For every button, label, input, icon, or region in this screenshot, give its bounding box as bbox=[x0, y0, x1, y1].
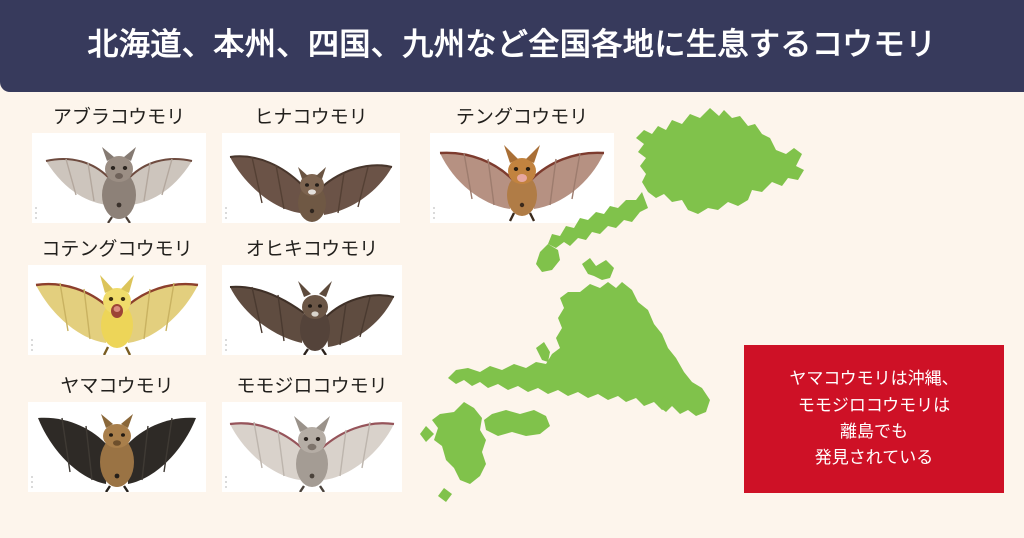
bat-illustration-icon bbox=[28, 265, 206, 355]
bat-label: オヒキコウモリ bbox=[222, 240, 402, 259]
bat-photo bbox=[222, 133, 400, 223]
bat-illustration-icon bbox=[32, 133, 206, 223]
photo-corner-dots bbox=[31, 476, 34, 488]
photo-corner-dots bbox=[225, 207, 228, 219]
infographic-root: 北海道、本州、四国、九州など全国各地に生息するコウモリ アブラコウモリ bbox=[0, 0, 1024, 538]
bat-card-yamakoumori: ヤマコウモリ bbox=[28, 377, 206, 492]
note-line-1: ヤマコウモリは沖縄、 bbox=[789, 366, 958, 392]
bat-label: コテングコウモリ bbox=[28, 240, 206, 259]
bat-label: ヤマコウモリ bbox=[28, 377, 206, 396]
bat-label: ヒナコウモリ bbox=[222, 108, 400, 127]
bat-card-hinakoumori: ヒナコウモリ bbox=[222, 108, 400, 223]
photo-corner-dots bbox=[225, 339, 228, 351]
bat-label: アブラコウモリ bbox=[32, 108, 206, 127]
note-line-4: 発見されている bbox=[815, 445, 934, 471]
page-title: 北海道、本州、四国、九州など全国各地に生息するコウモリ bbox=[87, 27, 936, 64]
bat-illustration-icon bbox=[222, 133, 400, 223]
bat-label: モモジロコウモリ bbox=[222, 377, 402, 396]
bat-photo bbox=[28, 402, 206, 492]
bat-card-aburakoumori: アブラコウモリ bbox=[32, 108, 206, 223]
bat-illustration-icon bbox=[222, 402, 402, 492]
note-box: ヤマコウモリは沖縄、 モモジロコウモリは 離島でも 発見されている bbox=[744, 345, 1004, 493]
note-line-2: モモジロコウモリは bbox=[798, 393, 950, 419]
bat-photo bbox=[222, 402, 402, 492]
bat-photo bbox=[28, 265, 206, 355]
bat-card-ohikikoumori: オヒキコウモリ bbox=[222, 240, 402, 355]
photo-corner-dots bbox=[31, 339, 34, 351]
bat-illustration-icon bbox=[28, 402, 206, 492]
bat-photo bbox=[222, 265, 402, 355]
note-line-3: 離島でも bbox=[840, 419, 908, 445]
bat-card-momojirokoumori: モモジロコウモリ bbox=[222, 377, 402, 492]
photo-corner-dots bbox=[35, 207, 38, 219]
header-bar: 北海道、本州、四国、九州など全国各地に生息するコウモリ bbox=[0, 0, 1024, 92]
bat-card-kotengukoumori: コテングコウモリ bbox=[28, 240, 206, 355]
bat-illustration-icon bbox=[222, 265, 402, 355]
photo-corner-dots bbox=[225, 476, 228, 488]
bat-photo bbox=[32, 133, 206, 223]
